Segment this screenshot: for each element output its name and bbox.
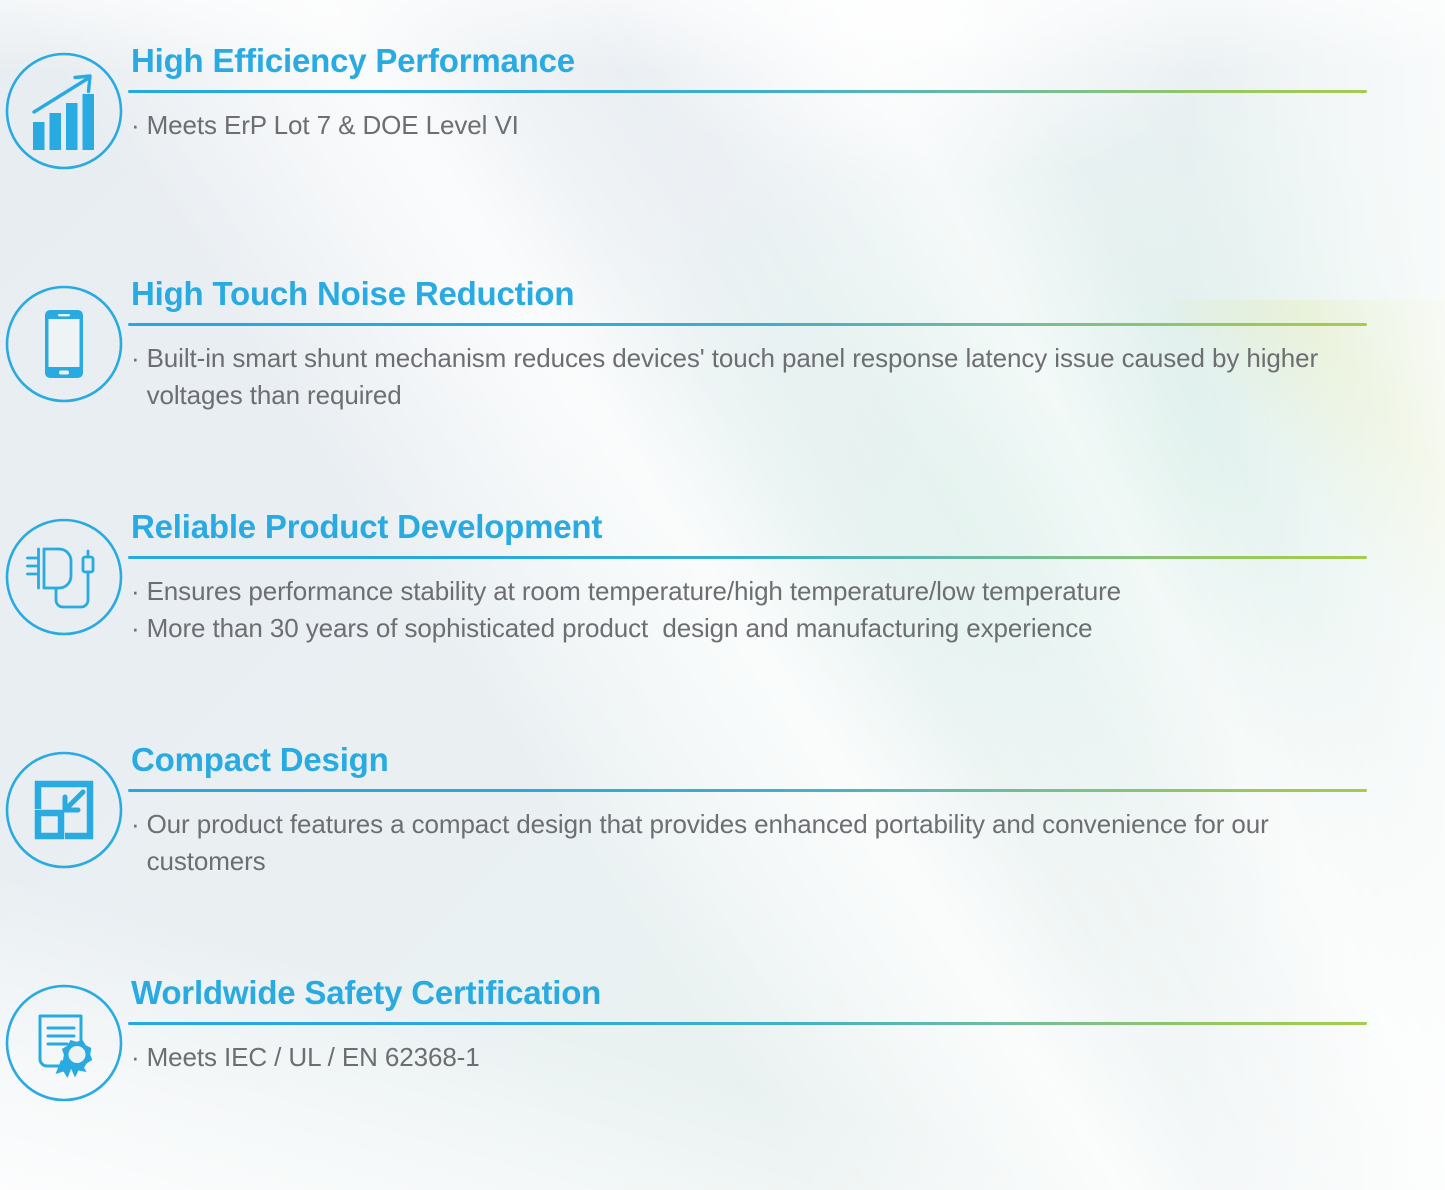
feature-body: Reliable Product Development · Ensures p… <box>128 510 1445 648</box>
bullet-item: · Built-in smart shunt mechanism reduces… <box>131 340 1367 415</box>
bullet-marker: · <box>131 1039 140 1076</box>
feature-item-worldwide-safety-certification: Worldwide Safety Certification · Meets I… <box>0 976 1445 1104</box>
bullet-text: Meets IEC / UL / EN 62368-1 <box>147 1039 480 1076</box>
bullet-marker: · <box>131 107 140 144</box>
power-adapter-icon <box>3 516 125 638</box>
bullet-marker: · <box>131 573 140 610</box>
feature-icon-container <box>0 277 128 405</box>
feature-item-compact-design: Compact Design · Our product features a … <box>0 743 1445 881</box>
feature-title: High Touch Noise Reduction <box>128 277 1367 323</box>
certificate-award-icon <box>3 982 125 1104</box>
bullet-text: Meets ErP Lot 7 & DOE Level VI <box>147 107 519 144</box>
feature-item-reliable-product-development: Reliable Product Development · Ensures p… <box>0 510 1445 648</box>
feature-bullet-list: · Our product features a compact design … <box>128 792 1367 881</box>
feature-bullet-list: · Meets ErP Lot 7 & DOE Level VI <box>128 93 1367 144</box>
bullet-marker: · <box>131 610 140 647</box>
feature-bullet-list: · Meets IEC / UL / EN 62368-1 <box>128 1025 1367 1076</box>
bullet-marker: · <box>131 340 140 377</box>
feature-icon-container <box>0 44 128 172</box>
bullet-item: · Meets ErP Lot 7 & DOE Level VI <box>131 107 1367 144</box>
bar-chart-growth-icon <box>3 50 125 172</box>
feature-list-page: High Efficiency Performance · Meets ErP … <box>0 0 1445 1190</box>
feature-title: High Efficiency Performance <box>128 44 1367 90</box>
feature-icon-container <box>0 510 128 638</box>
bullet-text: Built-in smart shunt mechanism reduces d… <box>147 340 1367 415</box>
bullet-marker: · <box>131 806 140 843</box>
bullet-text: Our product features a compact design th… <box>147 806 1367 881</box>
feature-body: High Touch Noise Reduction · Built-in sm… <box>128 277 1445 415</box>
smartphone-icon <box>3 283 125 405</box>
bullet-item: · More than 30 years of sophisticated pr… <box>131 610 1367 647</box>
bullet-item: · Ensures performance stability at room … <box>131 573 1367 610</box>
feature-icon-container <box>0 743 128 871</box>
feature-body: Worldwide Safety Certification · Meets I… <box>128 976 1445 1076</box>
bullet-item: · Our product features a compact design … <box>131 806 1367 881</box>
feature-body: Compact Design · Our product features a … <box>128 743 1445 881</box>
bullet-text: More than 30 years of sophisticated prod… <box>147 610 1093 647</box>
feature-item-high-touch-noise-reduction: High Touch Noise Reduction · Built-in sm… <box>0 277 1445 415</box>
feature-body: High Efficiency Performance · Meets ErP … <box>128 44 1445 144</box>
feature-title: Worldwide Safety Certification <box>128 976 1367 1022</box>
feature-icon-container <box>0 976 128 1104</box>
feature-bullet-list: · Ensures performance stability at room … <box>128 559 1367 648</box>
feature-item-high-efficiency-performance: High Efficiency Performance · Meets ErP … <box>0 44 1445 172</box>
bullet-item: · Meets IEC / UL / EN 62368-1 <box>131 1039 1367 1076</box>
compact-resize-icon <box>3 749 125 871</box>
feature-title: Reliable Product Development <box>128 510 1367 556</box>
bullet-text: Ensures performance stability at room te… <box>147 573 1121 610</box>
feature-title: Compact Design <box>128 743 1367 789</box>
feature-bullet-list: · Built-in smart shunt mechanism reduces… <box>128 326 1367 415</box>
